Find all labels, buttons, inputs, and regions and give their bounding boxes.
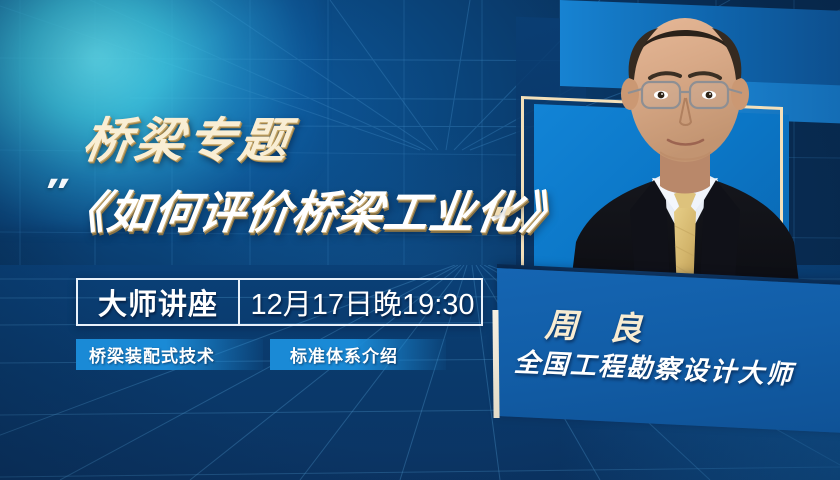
webinar-poster: 周 良 全国工程勘察设计大师 ″ 桥梁专题 《如何评价桥梁工业化》 ″ 大师讲座… (0, 0, 840, 480)
page-title: 桥梁专题 (79, 101, 297, 171)
nameplate-left-edge (492, 310, 499, 418)
lecture-info-bar: 大师讲座 12月17日晚19:30 (76, 278, 483, 326)
topic-tag: 标准体系介绍 (270, 339, 446, 370)
lecture-time: 12月17日晚19:30 (240, 281, 481, 323)
topic-tag: 桥梁装配式技术 (76, 339, 263, 370)
lecture-label: 大师讲座 (78, 281, 238, 323)
speaker-name: 周 良 (544, 298, 654, 351)
